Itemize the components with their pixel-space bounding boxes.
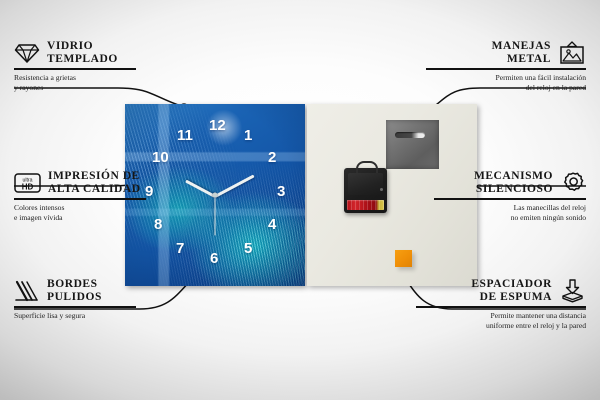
callout-impresion-alta-calidad: ultra HD IMPRESIÓN DE ALTA CALIDAD Color… <box>14 170 154 222</box>
callout-subtitle: Permite mantener una distancia uniforme … <box>416 311 586 330</box>
callout-rule <box>14 198 146 200</box>
callout-title: MANEJAS METAL <box>492 40 551 65</box>
hanger-slot <box>395 132 425 138</box>
clock-mechanism <box>344 168 387 213</box>
callout-title: IMPRESIÓN DE ALTA CALIDAD <box>48 170 141 195</box>
callout-title: VIDRIO TEMPLADO <box>47 40 118 65</box>
picture-frame-icon <box>558 41 586 65</box>
clock-numeral-8: 8 <box>154 217 162 232</box>
clock-numeral-12: 12 <box>209 118 226 133</box>
clock-center-pin <box>213 193 218 198</box>
callout-subtitle: Las manecillas del reloj no emiten ningú… <box>434 203 586 222</box>
ultra-hd-icon: ultra HD <box>14 172 41 194</box>
callout-header: ultra HD IMPRESIÓN DE ALTA CALIDAD <box>14 170 154 195</box>
callout-title: BORDES PULIDOS <box>47 278 102 303</box>
svg-text:HD: HD <box>22 182 34 191</box>
mechanism-hanging-loop <box>356 161 378 173</box>
clock-numeral-3: 3 <box>277 184 285 199</box>
clock-numeral-11: 11 <box>177 128 193 143</box>
callout-title: ESPACIADOR DE ESPUMA <box>471 278 552 303</box>
gear-icon <box>560 171 586 195</box>
callout-header: BORDES PULIDOS <box>14 278 142 303</box>
callout-rule <box>426 68 586 70</box>
callout-header: ESPACIADOR DE ESPUMA <box>416 278 586 303</box>
polished-edges-icon <box>14 280 40 302</box>
mechanism-indicator <box>380 188 383 191</box>
clock-second-hand <box>215 196 216 236</box>
mechanism-body <box>348 173 383 195</box>
clock-numeral-6: 6 <box>210 251 218 266</box>
clock-numeral-10: 10 <box>152 150 169 165</box>
product-photos: 12 1 2 3 4 5 6 7 8 9 10 11 <box>125 104 477 286</box>
callout-rule <box>416 306 586 308</box>
callout-vidrio-templado: VIDRIO TEMPLADO Resistencia a grietas y … <box>14 40 144 92</box>
callout-rule <box>434 198 586 200</box>
clock-numeral-1: 1 <box>244 128 252 143</box>
callout-manejas-metal: MANEJAS METAL Permiten una fácil instala… <box>426 40 586 92</box>
clock-numeral-2: 2 <box>268 150 276 165</box>
callout-rule <box>14 306 136 308</box>
foam-spacer-icon <box>559 279 586 303</box>
infographic-canvas: 12 1 2 3 4 5 6 7 8 9 10 11 <box>0 0 600 400</box>
clock-numeral-4: 4 <box>268 217 276 232</box>
metal-hanger-plate <box>386 120 439 169</box>
callout-subtitle: Permiten una fácil instalación del reloj… <box>426 73 586 92</box>
diamond-icon <box>14 42 40 64</box>
callout-rule <box>14 68 136 70</box>
callout-espaciador-espuma: ESPACIADOR DE ESPUMA Permite mantener un… <box>416 278 586 330</box>
clock-numeral-7: 7 <box>176 241 184 256</box>
clock-numeral-5: 5 <box>244 241 252 256</box>
callout-subtitle: Colores intensos e imagen vívida <box>14 203 154 222</box>
battery <box>347 200 384 210</box>
callout-mecanismo-silencioso: MECANISMO SILENCIOSO Las manecillas del … <box>434 170 586 222</box>
callout-subtitle: Superficie lisa y segura <box>14 311 142 321</box>
callout-subtitle: Resistencia a grietas y rayones <box>14 73 144 92</box>
battery-stripe <box>347 200 384 210</box>
callout-header: MANEJAS METAL <box>426 40 586 65</box>
callout-title: MECANISMO SILENCIOSO <box>474 170 553 195</box>
callout-bordes-pulidos: BORDES PULIDOS Superficie lisa y segura <box>14 278 142 321</box>
callout-header: VIDRIO TEMPLADO <box>14 40 144 65</box>
foam-spacer <box>395 250 412 267</box>
callout-header: MECANISMO SILENCIOSO <box>434 170 586 195</box>
